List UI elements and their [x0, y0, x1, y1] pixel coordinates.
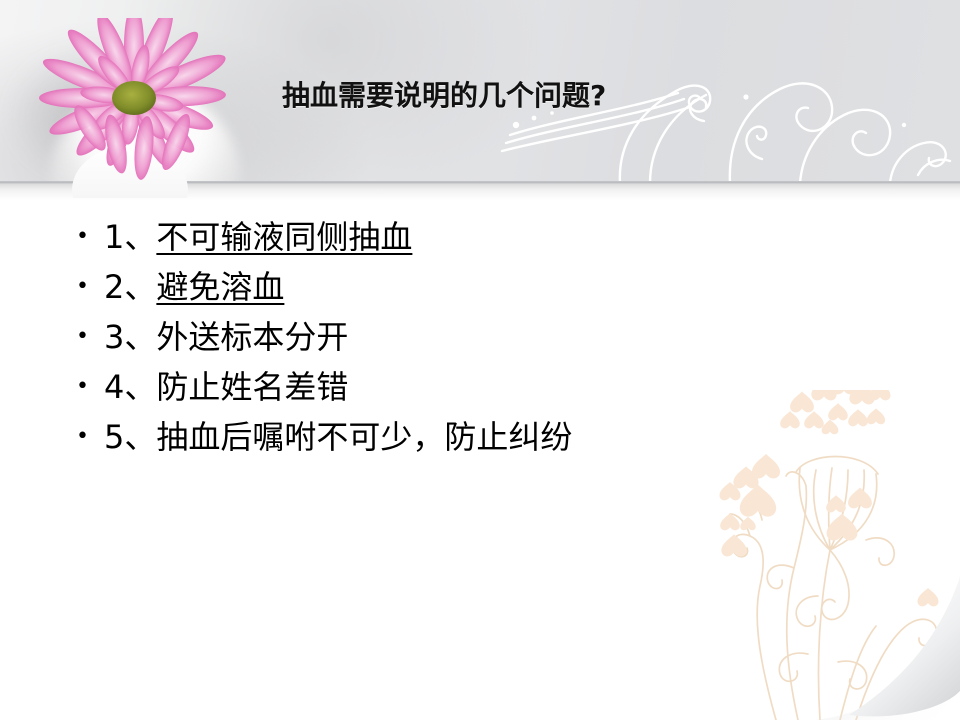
bullet-icon: • — [76, 312, 89, 362]
list-item-text: 外送标本分开 — [156, 318, 348, 356]
list-item-number: 4、 — [104, 368, 156, 406]
bullet-icon: • — [76, 412, 89, 462]
bullet-list: • 1、不可输液同侧抽血 • 2、避免溶血 • 3、外送标本分开 • 4、防止姓… — [70, 212, 890, 462]
list-item[interactable]: • 5、抽血后嘱咐不可少，防止纠纷 — [70, 412, 890, 462]
list-item-text: 抽血后嘱咐不可少，防止纠纷 — [156, 418, 572, 456]
list-item-number: 1、 — [104, 218, 156, 256]
list-item-number: 5、 — [104, 418, 156, 456]
list-item[interactable]: • 3、外送标本分开 — [70, 312, 890, 362]
list-item-text: 避免溶血 — [156, 268, 284, 306]
slide-title: 抽血需要说明的几个问题? — [282, 74, 606, 114]
presentation-slide: 抽血需要说明的几个问题? • 1、不可输液同侧抽血 • 2、避免溶血 • 3、外… — [0, 0, 960, 720]
list-item-number: 2、 — [104, 268, 156, 306]
bullet-icon: • — [76, 262, 89, 312]
page-curl-icon — [815, 575, 960, 720]
pink-flower-icon — [34, 18, 239, 198]
list-item[interactable]: • 2、避免溶血 — [70, 262, 890, 312]
list-item[interactable]: • 4、防止姓名差错 — [70, 362, 890, 412]
list-item-text: 防止姓名差错 — [156, 368, 348, 406]
list-item[interactable]: • 1、不可输液同侧抽血 — [70, 212, 890, 262]
list-item-text: 不可输液同侧抽血 — [156, 218, 412, 256]
bullet-icon: • — [76, 362, 89, 412]
bullet-icon: • — [76, 212, 89, 262]
list-item-number: 3、 — [104, 318, 156, 356]
